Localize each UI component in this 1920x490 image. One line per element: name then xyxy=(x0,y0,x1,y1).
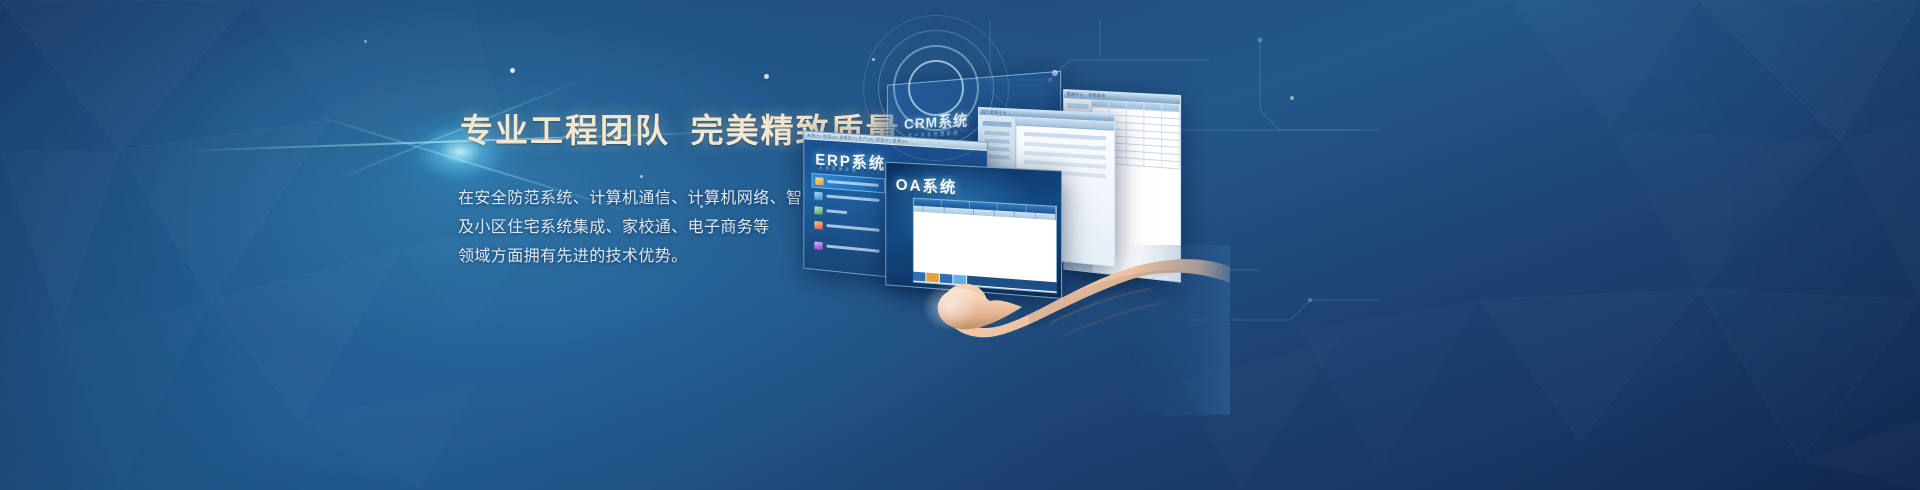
status-swatch xyxy=(953,275,966,285)
cart-icon xyxy=(814,191,822,199)
erp-nav-label xyxy=(827,180,878,187)
oa-column xyxy=(1015,212,1036,219)
window-oa[interactable]: OA系统 xyxy=(885,162,1062,299)
oa-column xyxy=(994,210,1014,217)
oa-column xyxy=(1035,213,1056,220)
status-swatch xyxy=(940,274,953,284)
oa-column xyxy=(974,209,994,216)
oa-column xyxy=(923,206,944,213)
hero-banner: 专业工程团队 完美精致质量 在安全防范系统、计算机通信、计算机网络、智能大厦 及… xyxy=(0,0,1920,490)
description-line: 及小区住宅系统集成、家校通、电子商务等 xyxy=(458,213,798,242)
particle-dot xyxy=(640,175,643,178)
tag-icon xyxy=(814,206,822,215)
description-line: 领域方面拥有先进的技术优势。 xyxy=(458,242,798,271)
folder-icon xyxy=(815,177,823,185)
erp-nav-label xyxy=(826,209,847,214)
software-screens-cluster: CRM系统 客户关系管理系统 EPS HAN 数据中心 - 明细查询 xyxy=(760,0,1360,420)
book-icon xyxy=(814,241,822,250)
erp-nav-item[interactable] xyxy=(812,237,886,259)
description-line: 在安全防范系统、计算机通信、计算机网络、智能大厦 xyxy=(458,184,798,213)
oa-column xyxy=(914,206,924,213)
banner-description: 在安全防范系统、计算机通信、计算机网络、智能大厦 及小区住宅系统集成、家校通、电… xyxy=(458,184,798,271)
particle-dot xyxy=(364,40,367,43)
particle-dot xyxy=(510,68,515,73)
erp-nav-label xyxy=(826,195,879,202)
erp-nav[interactable] xyxy=(812,173,886,259)
box-icon xyxy=(814,220,822,229)
erp-nav-label xyxy=(826,245,879,253)
status-swatch xyxy=(926,273,939,283)
erp-nav-label xyxy=(826,224,879,232)
status-swatch xyxy=(913,272,925,282)
oa-title: OA系统 xyxy=(896,171,958,198)
